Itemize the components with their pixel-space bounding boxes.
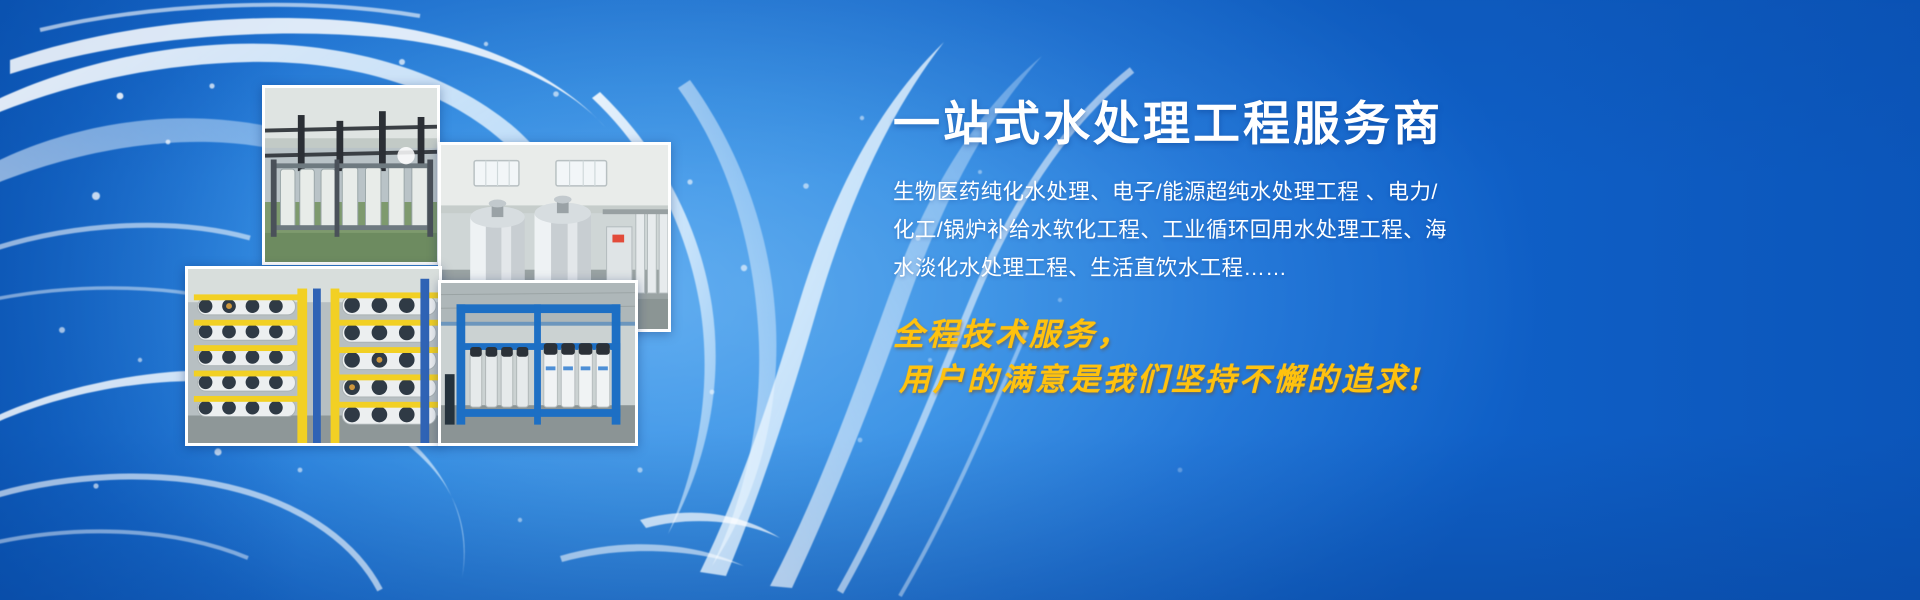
collage-photo-blue-frame-uf-skid xyxy=(438,280,638,446)
description-line-3: 水淡化水处理工程、生活直饮水工程…… xyxy=(893,249,1468,287)
slogan-line-2: 用户的满意是我们坚持不懈的追求! xyxy=(899,358,1493,403)
water-treatment-hero-banner: 一站式水处理工程服务商 生物医药纯化水处理、电子/能源超纯水处理工程 、电力/ … xyxy=(0,0,1920,600)
equipment-photo-collage xyxy=(180,80,680,450)
service-description: 生物医药纯化水处理、电子/能源超纯水处理工程 、电力/ 化工/锅炉补给水软化工程… xyxy=(893,173,1468,288)
description-line-1: 生物医药纯化水处理、电子/能源超纯水处理工程 、电力/ xyxy=(893,173,1468,211)
page-title: 一站式水处理工程服务商 xyxy=(893,98,1493,151)
slogan-line-1: 全程技术服务， xyxy=(893,313,1493,358)
description-line-2: 化工/锅炉补给水软化工程、工业循环回用水处理工程、海 xyxy=(893,211,1468,249)
right-edge-shade xyxy=(1500,0,1920,600)
slogan-block: 全程技术服务， 用户的满意是我们坚持不懈的追求! xyxy=(893,313,1493,403)
collage-photo-ro-membrane-racks xyxy=(185,266,442,446)
collage-photo-uf-membrane-plant xyxy=(262,85,440,265)
banner-copy-block: 一站式水处理工程服务商 生物医药纯化水处理、电子/能源超纯水处理工程 、电力/ … xyxy=(893,98,1493,403)
